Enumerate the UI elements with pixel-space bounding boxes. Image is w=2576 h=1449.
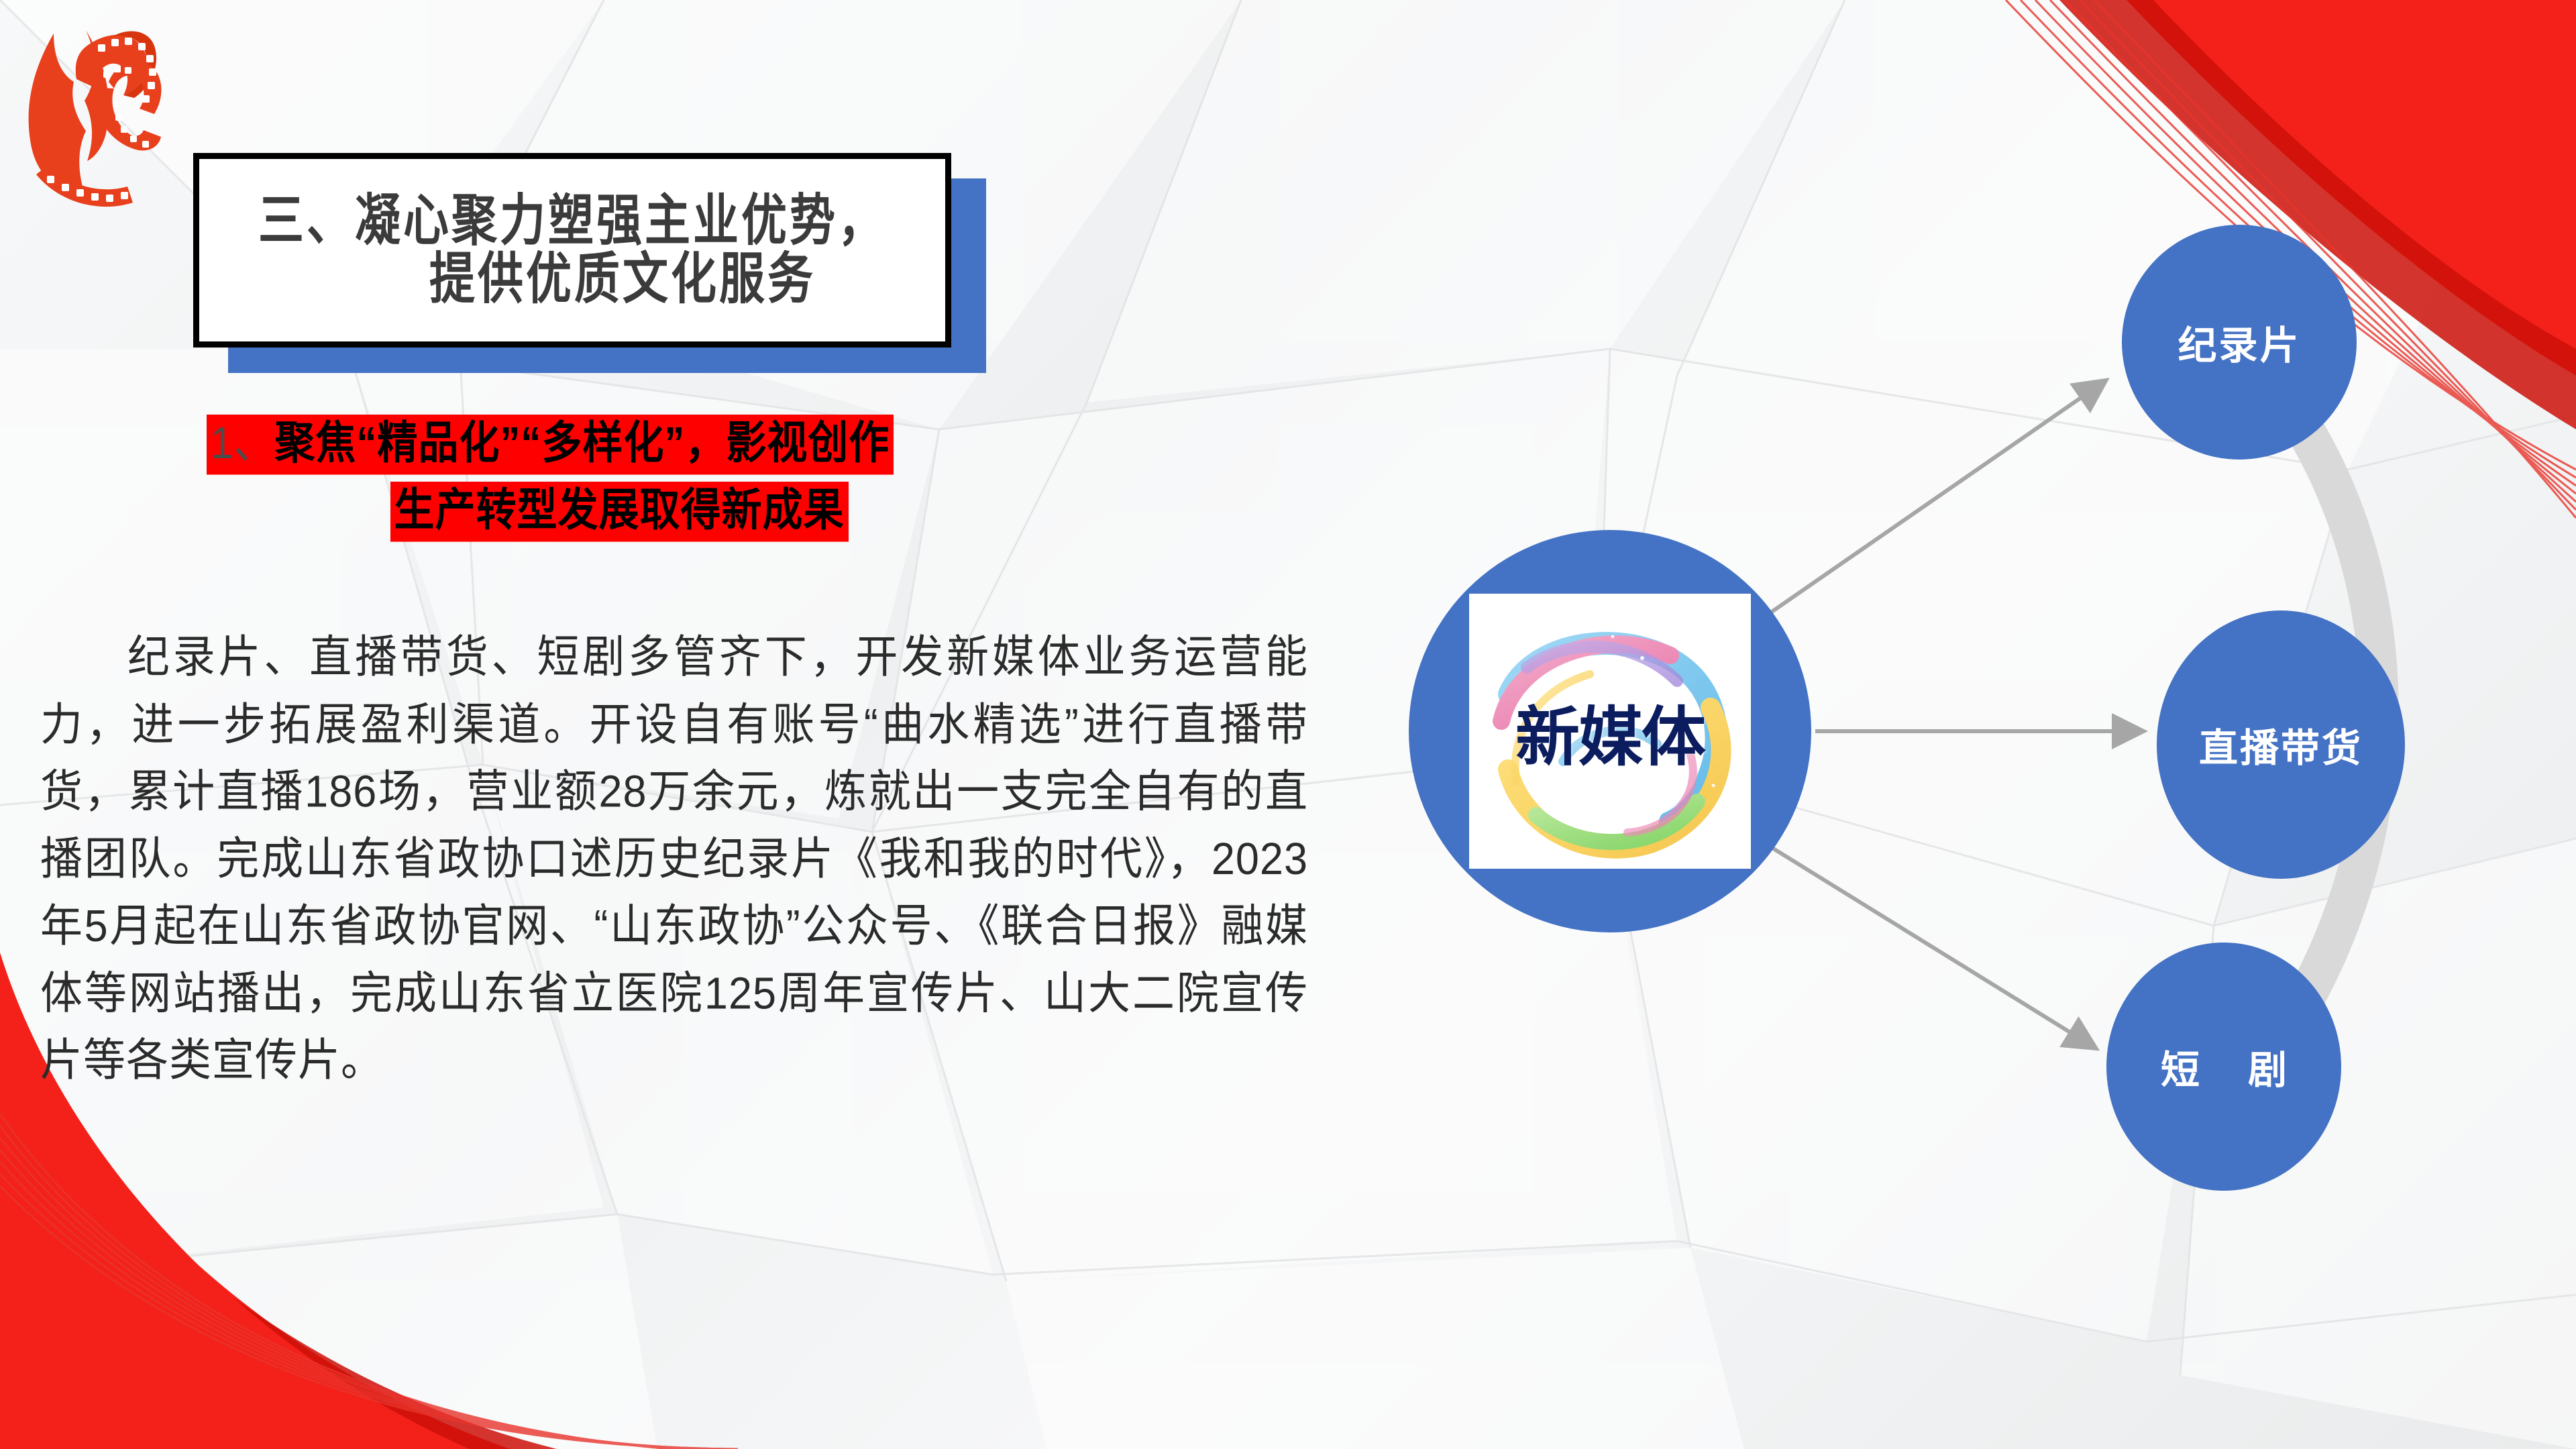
subtitle-block: 1、聚焦“精品化”“多样化”，影视创作 生产转型发展取得新成果 <box>221 415 1026 535</box>
subtitle-text-1: 聚焦“精品化”“多样化”，影视创作 <box>274 417 890 468</box>
paragraph-text: 纪录片、直播带货、短剧多管齐下，开发新媒体业务运营能力，进一步拓展盈利渠道。开设… <box>40 633 1308 1085</box>
diagram-center-node[interactable]: 新媒体 <box>1409 530 1811 932</box>
new-media-swirl-image: 新媒体 <box>1469 594 1751 869</box>
node-label-documentary: 纪录片 <box>2178 314 2300 370</box>
node-label-shortdrama: 短 剧 <box>2142 1038 2306 1095</box>
new-media-diagram: 新媒体 纪录片 直播带货 短 剧 <box>1342 181 2536 1322</box>
diagram-node-livestream[interactable]: 直播带货 <box>2157 610 2405 879</box>
subtitle-row-1: 1、聚焦“精品化”“多样化”，影视创作 <box>207 415 1026 468</box>
subtitle-line-2: 生产转型发展取得新成果 <box>390 482 849 542</box>
arrow-to-documentary <box>1739 382 2103 635</box>
node-label-livestream: 直播带货 <box>2199 716 2363 773</box>
title-box: 三、凝心聚力塑强主业优势， 提供优质文化服务 <box>193 153 951 347</box>
arrow-to-shortdrama <box>1744 830 2093 1046</box>
title-line-2: 提供优质文化服务 <box>329 244 816 315</box>
subtitle-number: 1、 <box>211 417 274 468</box>
center-node-label: 新媒体 <box>1515 685 1705 778</box>
subtitle-row-2: 生产转型发展取得新成果 <box>212 482 1026 535</box>
diagram-node-documentary[interactable]: 纪录片 <box>2122 225 2357 460</box>
diagram-node-shortdrama[interactable]: 短 剧 <box>2106 943 2341 1191</box>
title-block: 三、凝心聚力塑强主业优势， 提供优质文化服务 <box>193 153 951 347</box>
slide-canvas: 三、凝心聚力塑强主业优势， 提供优质文化服务 1、聚焦“精品化”“多样化”，影视… <box>0 0 2576 1449</box>
body-paragraph: 纪录片、直播带货、短剧多管齐下，开发新媒体业务运营能力，进一步拓展盈利渠道。开设… <box>40 624 1308 1094</box>
subtitle-line-1: 1、聚焦“精品化”“多样化”，影视创作 <box>207 415 894 475</box>
